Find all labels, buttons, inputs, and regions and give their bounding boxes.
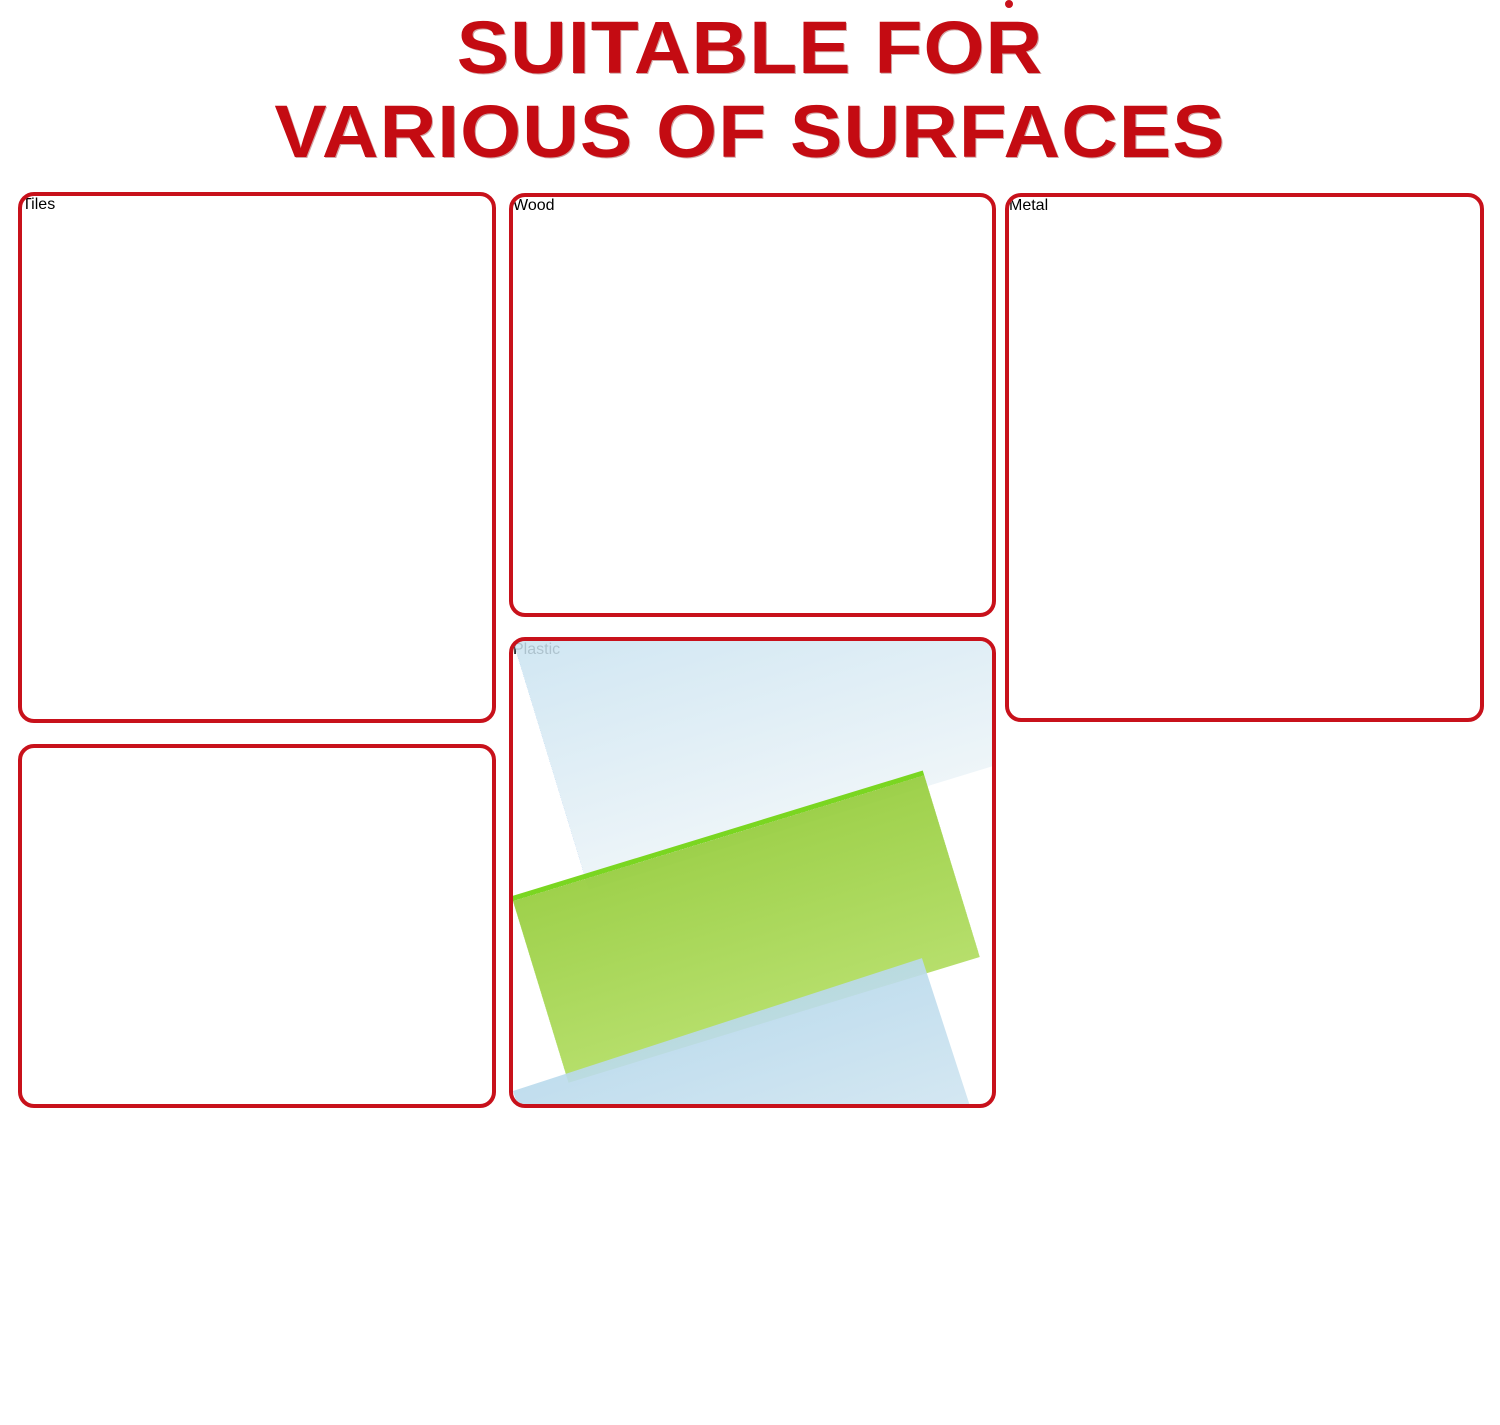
page-title-line-2: VARIOUS OF SURFACES: [0, 90, 1500, 174]
surface-card-tiles: Tiles: [18, 192, 496, 723]
surface-card-plastic: Plastic: [509, 637, 996, 1108]
surface-card-glass: Glass: [18, 744, 496, 1108]
plastic-texture: [513, 641, 992, 1104]
tiles-texture: [22, 196, 492, 719]
surface-card-metal: Metal: [1005, 193, 1484, 722]
wood-texture: [513, 197, 992, 613]
page-title: SUITABLE FOR VARIOUS OF SURFACES: [0, 0, 1500, 180]
glass-texture: [22, 748, 492, 1104]
surface-card-wood: Wood: [509, 193, 996, 617]
metal-texture: [1009, 197, 1480, 718]
page-title-line-1: SUITABLE FOR: [0, 6, 1500, 90]
surface-card-marble: Marble: [1005, 0, 1013, 8]
